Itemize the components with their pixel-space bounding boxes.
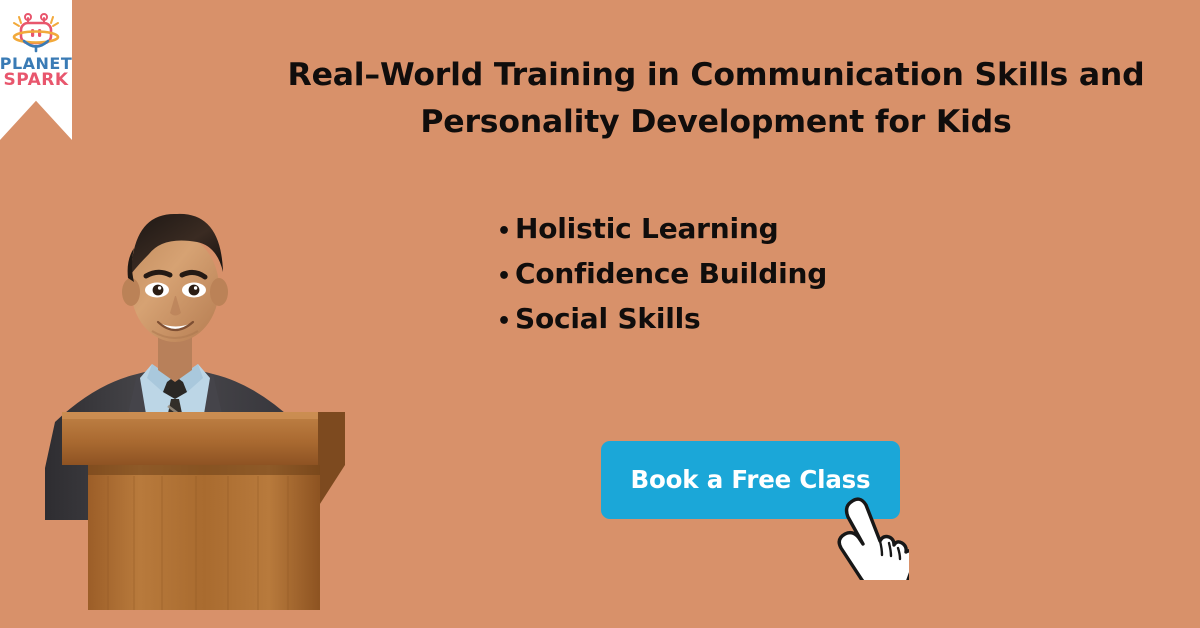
- headline-line-2: Personality Development for Kids: [240, 99, 1192, 146]
- headline-line-1: Real–World Training in Communication Ski…: [240, 52, 1192, 99]
- book-free-class-button[interactable]: Book a Free Class: [601, 441, 900, 519]
- page-title: Real–World Training in Communication Ski…: [240, 52, 1192, 146]
- bullet-icon: •: [497, 211, 515, 253]
- hero-photo-boy-at-podium: [0, 150, 400, 628]
- feature-label: Social Skills: [515, 298, 700, 340]
- feature-list: • Holistic Learning • Confidence Buildin…: [497, 208, 827, 343]
- feature-label: Confidence Building: [515, 253, 827, 295]
- promo-banner: PLANET SPARK: [0, 0, 1200, 628]
- feature-label: Holistic Learning: [515, 208, 779, 250]
- bullet-icon: •: [497, 256, 515, 298]
- robot-mascot-icon: [10, 12, 62, 54]
- logo-wordmark-spark: SPARK: [3, 72, 68, 89]
- brand-logo[interactable]: PLANET SPARK: [0, 0, 72, 140]
- list-item: • Social Skills: [497, 298, 827, 343]
- list-item: • Holistic Learning: [497, 208, 827, 253]
- list-item: • Confidence Building: [497, 253, 827, 298]
- bullet-icon: •: [497, 301, 515, 343]
- cta-area: Book a Free Class: [601, 441, 900, 519]
